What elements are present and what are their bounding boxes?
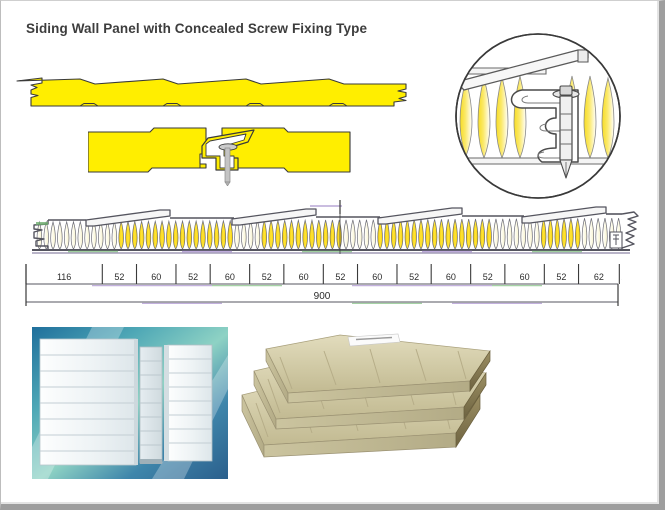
dimension-label: 52: [335, 272, 345, 282]
dimension-label: 60: [372, 272, 382, 282]
dimension-label: 52: [556, 272, 566, 282]
stacked-panels-photo: [238, 333, 500, 459]
white-siding-panels-photo: [32, 327, 228, 479]
dimension-label: 60: [225, 272, 235, 282]
dimension-label: 52: [483, 272, 493, 282]
panel-cross-section-profile: [14, 72, 414, 118]
dimension-label: 52: [188, 272, 198, 282]
dimension-label: 116: [57, 272, 71, 282]
full-panel-section-900mm: [22, 198, 644, 262]
panel-joint-with-screw: [88, 124, 368, 186]
dimension-label: 52: [262, 272, 272, 282]
dimension-label: 60: [520, 272, 530, 282]
dimension-label: 52: [409, 272, 419, 282]
dimension-label: 52: [114, 272, 124, 282]
dimension-chain: 116526052605260526052605260526222900: [22, 262, 622, 308]
dimension-label: 60: [299, 272, 309, 282]
diagram-page: Siding Wall Panel with Concealed Screw F…: [0, 0, 665, 510]
concealed-screw-detail: [438, 30, 638, 202]
total-dimension-label: 900: [314, 291, 331, 302]
dimension-label: 60: [151, 272, 161, 282]
dimension-label: 62: [594, 272, 604, 282]
page-title: Siding Wall Panel with Concealed Screw F…: [26, 21, 367, 36]
dimension-label: 60: [446, 272, 456, 282]
